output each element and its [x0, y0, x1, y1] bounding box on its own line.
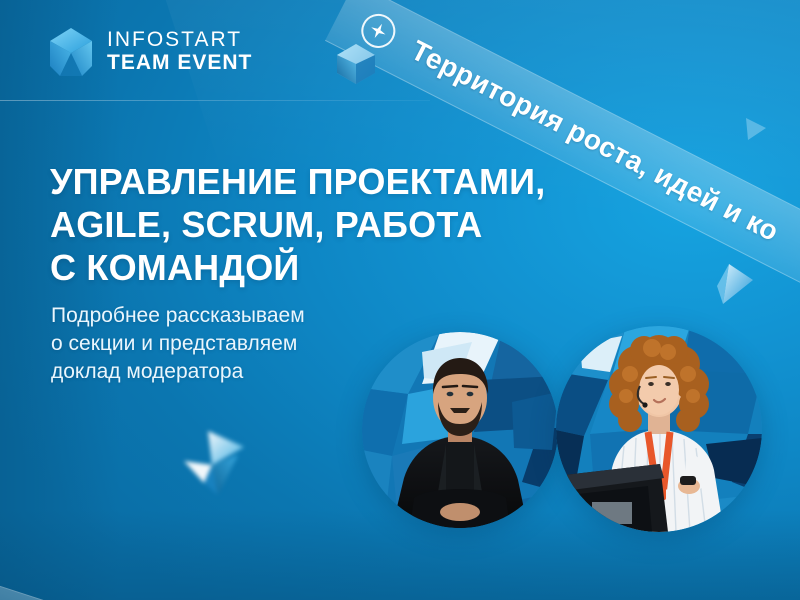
subheadline: Подробнее рассказываем о секции и предст…: [51, 302, 401, 386]
headline-line-3: С КОМАНДОЙ: [50, 246, 710, 289]
background-left-shade: [0, 0, 120, 600]
header-divider-line: [0, 100, 430, 101]
promo-poster: INFOSTART TEAM EVENT Территория роста, и…: [0, 0, 800, 600]
sparkle-badge-icon: [355, 8, 401, 54]
crystal-icon: [178, 425, 250, 501]
small-triangle-icon: [742, 116, 768, 142]
logo-wordmark: INFOSTART TEAM EVENT: [107, 29, 252, 75]
logo-name-bottom: TEAM EVENT: [107, 51, 252, 75]
subheadline-line-2: о секции и представляем: [51, 330, 401, 358]
shard-triangle-icon: [715, 262, 755, 306]
subheadline-line-1: Подробнее рассказываем: [51, 302, 401, 330]
speaker-photo-right-image: [556, 326, 762, 532]
headline: УПРАВЛЕНИЕ ПРОЕКТАМИ, AGILE, SCRUM, РАБО…: [50, 160, 710, 289]
subheadline-line-3: доклад модератора: [51, 358, 401, 386]
ribbon-bottom-content: оманды Территория роста, и: [0, 530, 264, 600]
logo-name-top: INFOSTART: [107, 29, 252, 51]
headline-line-2: AGILE, SCRUM, РАБОТА: [50, 203, 710, 246]
infostart-diamond-logo-icon: [48, 26, 94, 78]
speaker-photo-right: [556, 326, 762, 532]
speaker-photo-left: [362, 332, 558, 528]
gem-icon: [335, 42, 377, 86]
headline-line-1: УПРАВЛЕНИЕ ПРОЕКТАМИ,: [50, 160, 710, 203]
speaker-photo-left-image: [362, 332, 558, 528]
infostart-logo[interactable]: INFOSTART TEAM EVENT: [48, 26, 252, 78]
